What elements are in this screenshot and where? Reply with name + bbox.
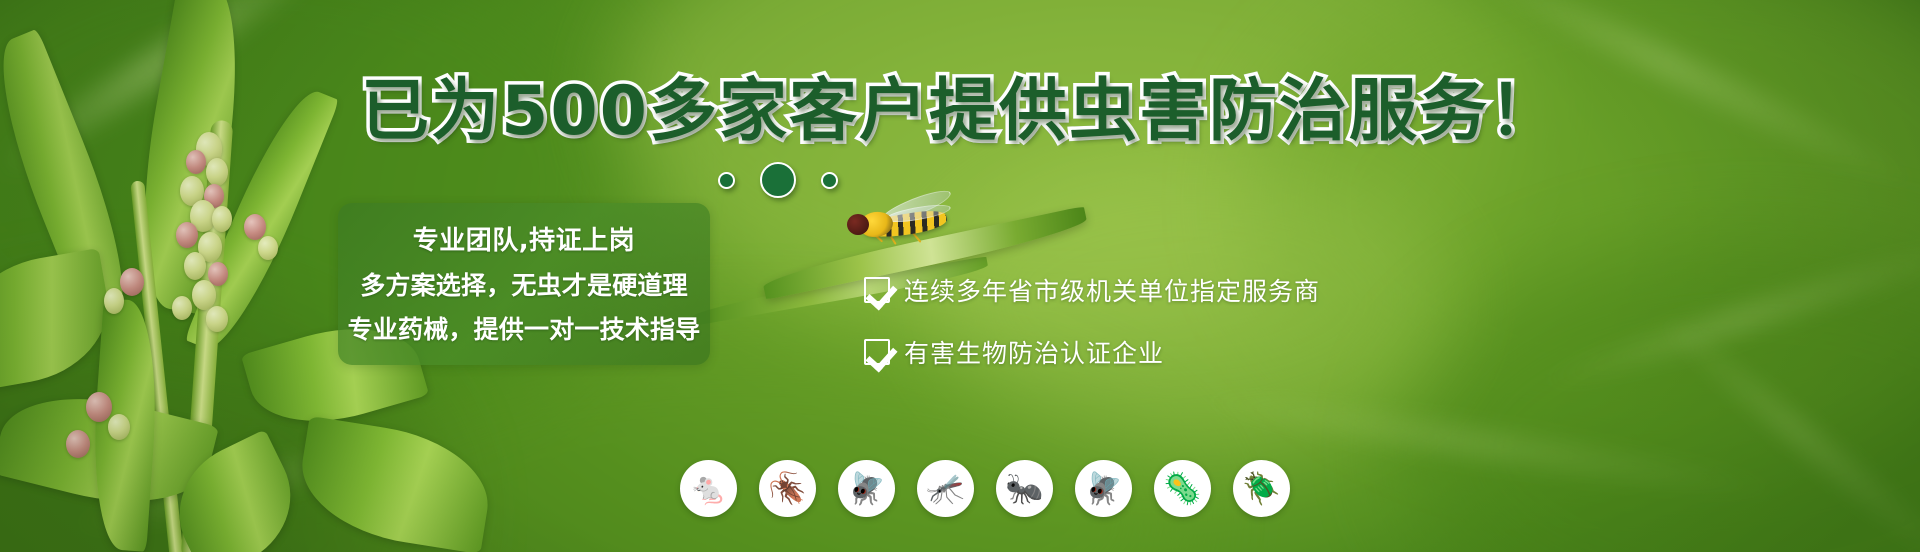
cockroach-icon[interactable]: 🪳 [759, 460, 816, 517]
decor-dot-small-left [718, 172, 735, 189]
mosquito-icon[interactable]: 🦟 [917, 460, 974, 517]
pest-types-row: 🐁 🪳 🪰 🦟 🐜 🪰 🦠 🪲 [680, 460, 1290, 517]
panel-line-1: 专业团队,持证上岗 [413, 220, 635, 257]
decor-dot-large [760, 162, 796, 198]
checklist-item-label: 连续多年省市级机关单位指定服务商 [904, 272, 1320, 308]
certification-checklist: 连续多年省市级机关单位指定服务商 有害生物防治认证企业 [864, 272, 1320, 370]
flea-icon[interactable]: 🦠 [1154, 460, 1211, 517]
decor-dot-small-right [821, 172, 838, 189]
checklist-item: 连续多年省市级机关单位指定服务商 [864, 272, 1320, 308]
panel-line-2: 多方案选择，无虫才是硬道理 [360, 266, 688, 302]
decorative-dots [718, 160, 838, 200]
blowfly-icon[interactable]: 🪰 [1075, 460, 1132, 517]
ant-icon[interactable]: 🐜 [996, 460, 1053, 517]
bedbug-icon[interactable]: 🪲 [1233, 460, 1290, 517]
fly-icon[interactable]: 🪰 [838, 460, 895, 517]
promo-banner: 已为500多家客户提供虫害防治服务！ 专业团队,持证上岗 多方案选择，无虫才是硬… [0, 0, 1920, 552]
banner-headline-text: 已为500多家客户提供虫害防治服务！ [361, 72, 1559, 151]
checklist-item-label: 有害生物防治认证企业 [904, 334, 1164, 370]
checklist-item: 有害生物防治认证企业 [864, 334, 1320, 370]
rodent-icon[interactable]: 🐁 [680, 460, 737, 517]
hoverfly-image [845, 196, 975, 256]
panel-line-3: 专业药械，提供一对一技术指导 [348, 310, 701, 346]
checkbox-check-icon [864, 339, 890, 365]
features-panel-text: 专业团队,持证上岗 多方案选择，无虫才是硬道理 专业药械，提供一对一技术指导 [338, 203, 710, 365]
checkbox-check-icon [864, 277, 890, 303]
banner-headline: 已为500多家客户提供虫害防治服务！ [0, 78, 1920, 146]
